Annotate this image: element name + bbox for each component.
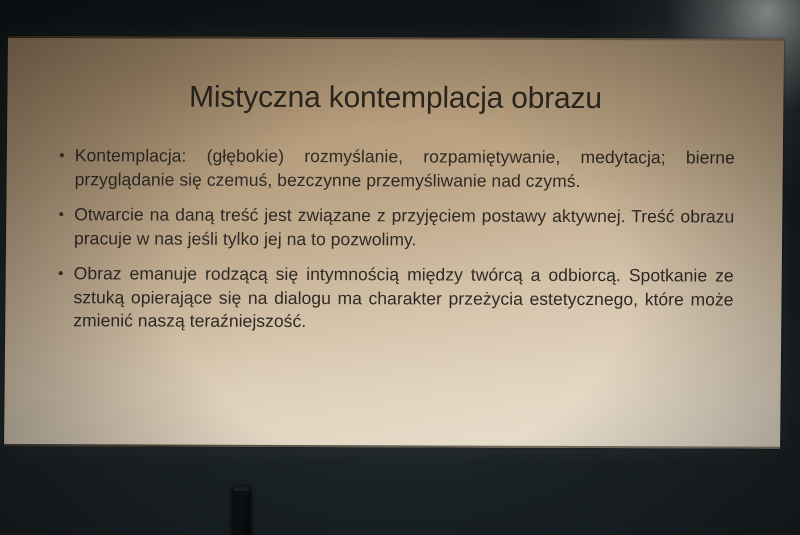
projection-screen: Mistyczna kontemplacja obrazu Kontemplac…	[4, 36, 784, 449]
slide-content: Mistyczna kontemplacja obrazu Kontemplac…	[4, 36, 784, 449]
bullet-dot-icon	[59, 271, 63, 275]
list-item: Obraz emanuje rodzącą się intymnością mi…	[57, 262, 734, 335]
bullet-text: Kontemplacja: (głębokie) rozmyślanie, ro…	[75, 144, 735, 193]
slide-title: Mistyczna kontemplacja obrazu	[7, 80, 783, 117]
bullet-dot-icon	[59, 212, 63, 216]
foreground-dark-object	[232, 487, 251, 535]
bullet-text: Obraz emanuje rodzącą się intymnością mi…	[73, 262, 734, 335]
photo-scene: Mistyczna kontemplacja obrazu Kontemplac…	[0, 0, 800, 535]
bullet-text: Otwarcie na daną treść jest związane z p…	[74, 203, 734, 252]
list-item: Kontemplacja: (głębokie) rozmyślanie, ro…	[59, 144, 735, 193]
list-item: Otwarcie na daną treść jest związane z p…	[58, 203, 734, 252]
bullet-list: Kontemplacja: (głębokie) rozmyślanie, ro…	[57, 144, 735, 335]
bullet-dot-icon	[60, 153, 64, 157]
